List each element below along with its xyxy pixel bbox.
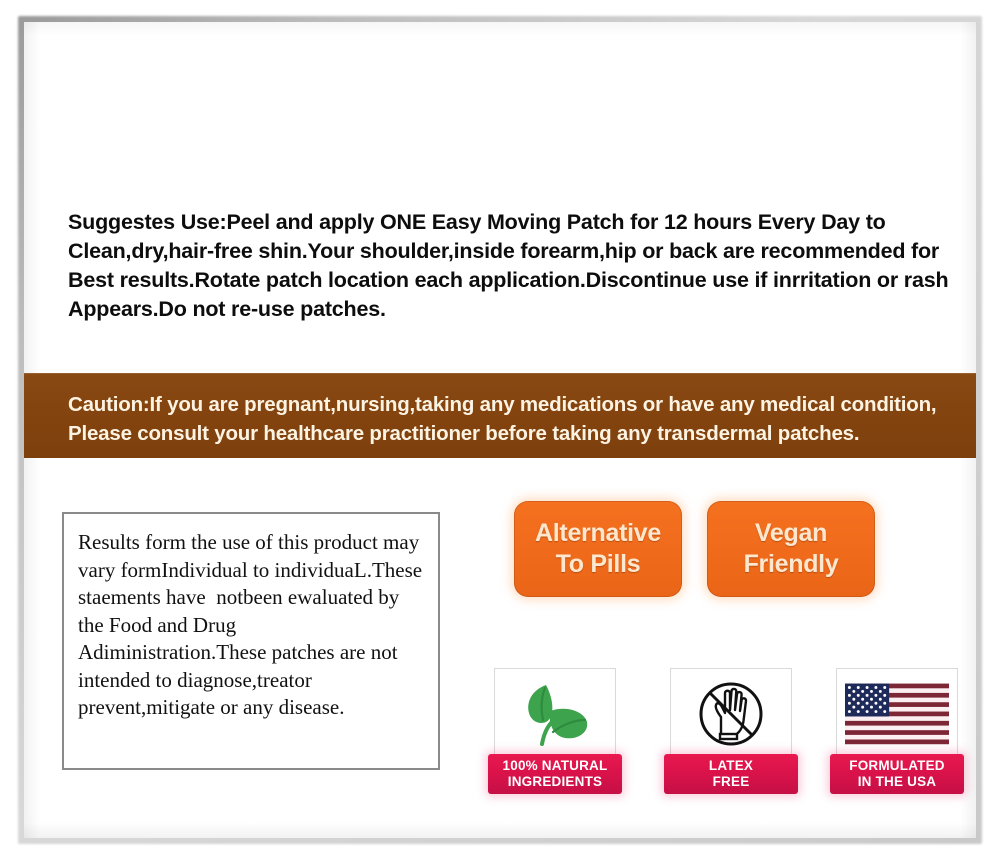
product-label-card: Suggestes Use:Peel and apply ONE Easy Mo… [24, 22, 976, 838]
certification-label-line-2: INGREDIENTS [508, 774, 602, 790]
badge-line-2: To Pills [556, 549, 641, 580]
certification-formulated-in-usa: FORMULATED IN THE USA [830, 668, 964, 794]
suggested-use-text: Suggestes Use:Peel and apply ONE Easy Mo… [68, 208, 958, 324]
badge-line-1: Vegan [755, 518, 827, 549]
suggested-use-block: Suggestes Use:Peel and apply ONE Easy Mo… [68, 208, 958, 324]
certification-latex-free: LATEX FREE [664, 668, 798, 794]
certification-label: 100% NATURAL INGREDIENTS [488, 754, 622, 794]
no-latex-glove-icon [694, 677, 768, 751]
caution-text: Caution:If you are pregnant,nursing,taki… [68, 390, 948, 448]
certification-label: LATEX FREE [664, 754, 798, 794]
badge-line-1: Alternative [535, 518, 661, 549]
certification-artwork [670, 668, 792, 760]
disclaimer-text: Results form the use of this product may… [78, 529, 428, 722]
certification-artwork [836, 668, 958, 760]
certification-label-line-2: IN THE USA [858, 774, 937, 790]
badge-line-2: Friendly [744, 549, 839, 580]
label-stage: Suggestes Use:Peel and apply ONE Easy Mo… [0, 0, 1000, 862]
certification-label-line-2: FREE [713, 774, 750, 790]
usa-flag-icon [845, 683, 949, 745]
certification-label-line-1: LATEX [709, 758, 753, 774]
certification-label-line-1: FORMULATED [849, 758, 945, 774]
caution-band: Caution:If you are pregnant,nursing,taki… [24, 373, 976, 458]
leaf-icon [516, 680, 594, 748]
badge-alternative-to-pills: Alternative To Pills [514, 501, 682, 597]
certification-artwork [494, 668, 616, 760]
badge-vegan-friendly: Vegan Friendly [707, 501, 875, 597]
disclaimer-box: Results form the use of this product may… [62, 512, 440, 770]
certification-label-line-1: 100% NATURAL [503, 758, 608, 774]
certification-natural-ingredients: 100% NATURAL INGREDIENTS [488, 668, 622, 794]
certification-label: FORMULATED IN THE USA [830, 754, 964, 794]
